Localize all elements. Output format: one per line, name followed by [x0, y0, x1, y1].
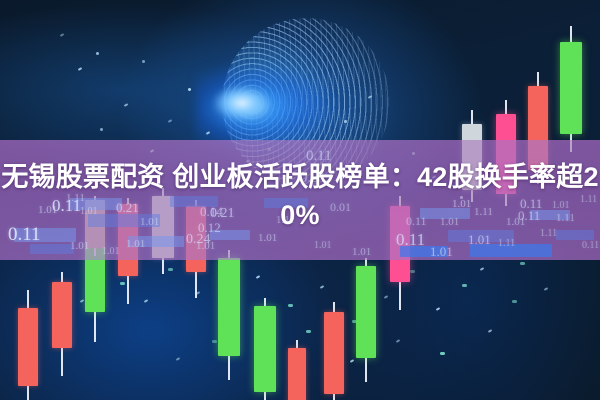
- price-value-label: 1.01: [126, 238, 145, 250]
- news-banner: 0.110.111.011.111.011.011.011.011.010.21…: [0, 0, 600, 400]
- price-value-label: 1.01: [102, 246, 120, 257]
- candle-body: [254, 306, 276, 392]
- price-value-label: 0.24: [186, 232, 211, 248]
- price-value-label: 1.01: [430, 244, 453, 260]
- particle-dot: [440, 352, 445, 355]
- headline-line-1: 无锡股票配资 创业板活跃股榜单：42股换手率超2: [0, 158, 600, 196]
- candle-body: [18, 308, 38, 386]
- candle-body: [52, 282, 72, 348]
- particle-dot: [142, 60, 145, 63]
- candle-body: [218, 258, 240, 356]
- particle-dot: [520, 262, 525, 265]
- candle-body: [324, 312, 344, 394]
- particle-dot: [212, 340, 217, 343]
- page-title: 无锡股票配资 创业板活跃股榜单：42股换手率超2 0%: [0, 158, 600, 234]
- particle-dot: [344, 120, 347, 123]
- price-value-label: 1.01: [352, 246, 371, 258]
- price-value-label: 1.11: [498, 238, 515, 249]
- price-value-label: 1.01: [314, 240, 332, 251]
- particle-dot: [306, 330, 311, 333]
- candle-body: [288, 348, 306, 400]
- candle-body: [560, 42, 582, 134]
- headline-line-2: 0%: [0, 196, 600, 234]
- price-value-label: 1.01: [468, 232, 491, 248]
- price-value-label: 0.11: [582, 240, 599, 251]
- candle-body: [356, 266, 376, 358]
- particle-dot: [410, 270, 415, 273]
- price-value-label: 1.01: [70, 240, 89, 252]
